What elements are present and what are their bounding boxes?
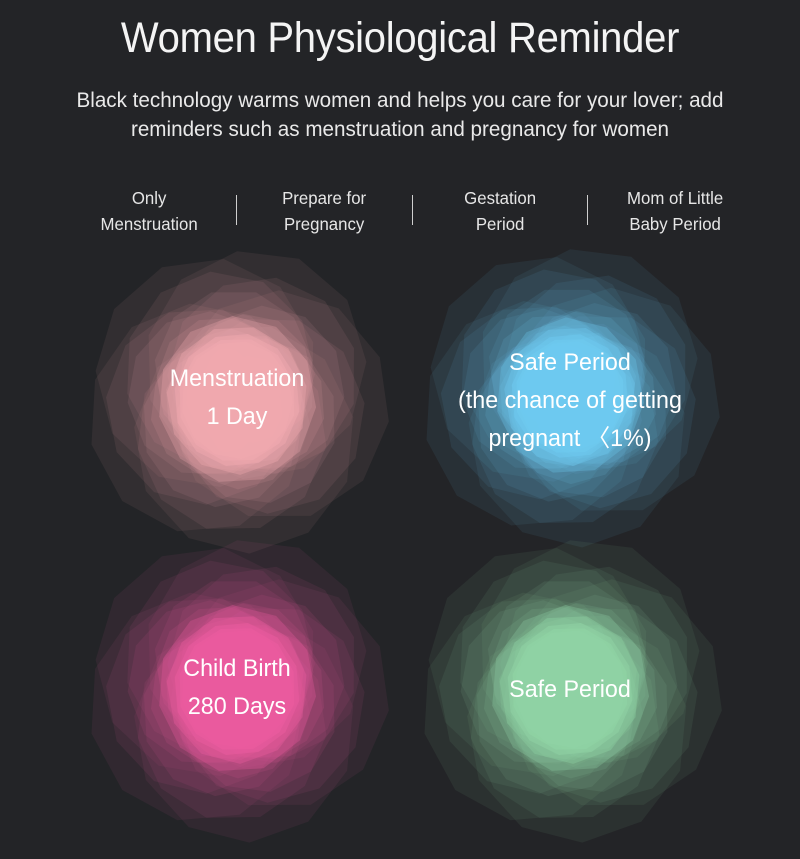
tab-label: Prepare for Pregnancy bbox=[282, 188, 366, 234]
page-subtitle: Black technology warms women and helps y… bbox=[51, 86, 750, 144]
blob-safe-period-gestation[interactable] bbox=[402, 228, 738, 564]
tab-label: Only Menstruation bbox=[101, 188, 198, 234]
page-title: Women Physiological Reminder bbox=[28, 13, 772, 63]
blob-petals-child-birth bbox=[67, 519, 407, 859]
blob-child-birth[interactable] bbox=[67, 519, 407, 859]
blob-petals-safe-period-gestation bbox=[402, 228, 738, 564]
blob-safe-period-baby[interactable] bbox=[400, 519, 740, 859]
tab-only-menstruation[interactable]: Only Menstruation bbox=[65, 183, 232, 237]
blob-petals-safe-period-baby bbox=[400, 519, 740, 859]
infographic-page: Women Physiological Reminder Black techn… bbox=[0, 0, 800, 800]
tab-divider bbox=[587, 195, 588, 225]
tab-prepare-for-pregnancy[interactable]: Prepare for Pregnancy bbox=[241, 183, 408, 237]
tab-divider bbox=[412, 195, 413, 225]
tab-divider bbox=[236, 195, 237, 225]
